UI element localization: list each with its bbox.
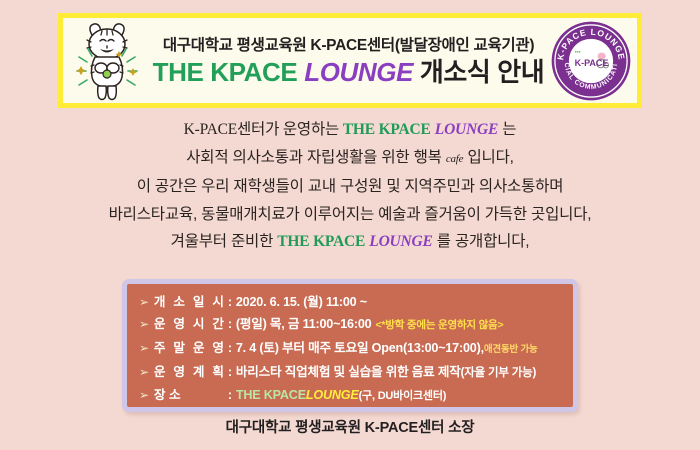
body-line-1-post: 는: [498, 121, 516, 138]
info-value-operation-plan: 바리스타 직업체험 및 실습을 위한 음료 제작: [236, 361, 461, 383]
info-label-weekend-operation: 주 말 운 영: [154, 337, 228, 359]
venue-former-name: (구, DU바이크센터): [359, 385, 447, 407]
info-value-operating-hours: (평일) 목, 금 11:00~16:00: [236, 313, 372, 335]
header-title: THE KPACE LOUNGE 개소식 안내: [153, 58, 545, 87]
body-line-5-post: 를 공개합니다,: [433, 233, 530, 250]
header-title-brand-the-kpace: THE KPACE: [153, 57, 298, 87]
venue-brand-the-kpace: THE KPACE: [236, 384, 306, 406]
body-line-1-pre: K-PACE센터가 운영하는: [184, 121, 343, 138]
info-row-venue: ➢ 장 소 : THE KPACE LOUNGE(구, DU바이크센터): [139, 384, 563, 407]
header-subtitle: 대구대학교 평생교육원 K-PACE센터(발달장애인 교육기관): [163, 33, 534, 55]
body-line-1: K-PACE센터가 운영하는 THE KPACE LOUNGE 는: [0, 116, 700, 144]
bullet-arrow-icon: ➢: [139, 337, 149, 359]
info-row-operating-hours: ➢ 운 영 시 간 : (평일) 목, 금 11:00~16:00 <*방학 중…: [139, 313, 563, 336]
info-label-opening-date: 개 소 일 시: [154, 291, 228, 313]
bullet-arrow-icon: ➢: [139, 361, 149, 383]
info-value-weekend-operation: 7. 4 (토) 부터 매주 토요일 Open(13:00~17:00),: [236, 337, 484, 359]
header-title-suffix: 개소식 안내: [420, 57, 544, 87]
body-line-2-post: 입니다,: [463, 149, 513, 166]
white-tiger-mascot-icon: [67, 18, 147, 104]
body-line-5-pre: 겨울부터 준비한: [171, 233, 278, 250]
info-label-venue: 장 소: [154, 384, 228, 406]
venue-brand-lounge: LOUNGE: [306, 384, 359, 406]
header-banner: 대구대학교 평생교육원 K-PACE센터(발달장애인 교육기관) THE KPA…: [58, 13, 642, 108]
poster-root: 대구대학교 평생교육원 K-PACE센터(발달장애인 교육기관) THE KPA…: [0, 0, 700, 450]
info-note-vacation-closed: <*방학 중에는 운영하지 않음>: [375, 314, 503, 336]
body-line-2: 사회적 의사소통과 자립생활을 위한 행복 cafe 입니다,: [0, 144, 700, 174]
info-row-operation-plan: ➢ 운 영 계 획 : 바리스타 직업체험 및 실습을 위한 음료 제작(자율 …: [139, 361, 563, 384]
bullet-arrow-icon: ➢: [139, 384, 149, 406]
info-colon-1: :: [228, 313, 232, 335]
info-note-pets-allowed: 애견동반 가능: [484, 339, 538, 361]
body-paragraph: K-PACE센터가 운영하는 THE KPACE LOUNGE 는 사회적 의사…: [0, 116, 700, 256]
info-row-opening-date: ➢ 개 소 일 시 : 2020. 6. 15. (월) 11:00 ~: [139, 291, 563, 313]
info-row-weekend-operation: ➢ 주 말 운 영 : 7. 4 (토) 부터 매주 토요일 Open(13:0…: [139, 337, 563, 361]
svg-text:K-PACE: K-PACE: [575, 57, 609, 67]
info-label-operation-plan: 운 영 계 획: [154, 361, 228, 383]
bullet-arrow-icon: ➢: [139, 291, 149, 313]
info-details-box: ➢ 개 소 일 시 : 2020. 6. 15. (월) 11:00 ~ ➢ 운…: [122, 279, 578, 412]
info-colon-2: :: [228, 337, 232, 359]
info-label-operating-hours: 운 영 시 간: [154, 313, 228, 335]
body-line-2-pre: 사회적 의사소통과 자립생활을 위한 행복: [186, 149, 446, 166]
svg-text:￭￭￭: ￭￭￭: [575, 49, 581, 54]
info-note-voluntary-donation: (자율 기부 가능): [461, 362, 537, 384]
kpace-lounge-circular-logo-icon: K-PACE LOUNGE SOCIAL COMMUNICATION ￭￭￭ K…: [550, 20, 632, 102]
header-title-brand-lounge: LOUNGE: [304, 57, 413, 87]
body-line-5-brand-purple: LOUNGE: [369, 233, 432, 250]
info-value-opening-date: 2020. 6. 15. (월) 11:00 ~: [236, 291, 367, 313]
header-text-block: 대구대학교 평생교육원 K-PACE센터(발달장애인 교육기관) THE KPA…: [147, 33, 550, 87]
info-colon-0: :: [228, 291, 232, 313]
body-line-5-brand-green: THE KPACE: [277, 233, 365, 250]
body-line-1-brand-purple: LOUNGE: [435, 121, 498, 138]
info-colon-3: :: [228, 361, 232, 383]
body-line-5: 겨울부터 준비한 THE KPACE LOUNGE 를 공개합니다,: [0, 228, 700, 256]
bullet-arrow-icon: ➢: [139, 313, 149, 335]
footer-signature: 대구대학교 평생교육원 K-PACE센터 소장: [0, 416, 700, 437]
body-line-4: 바리스타교육, 동물매개치료가 이루어지는 예술과 즐거움이 가득한 곳입니다,: [0, 201, 700, 229]
body-line-1-brand-green: THE KPACE: [343, 121, 431, 138]
body-line-2-cafe-word: cafe: [446, 153, 464, 165]
info-colon-venue: :: [228, 384, 232, 406]
body-line-3: 이 공간은 우리 재학생들이 교내 구성원 및 지역주민과 의사소통하며: [0, 173, 700, 201]
